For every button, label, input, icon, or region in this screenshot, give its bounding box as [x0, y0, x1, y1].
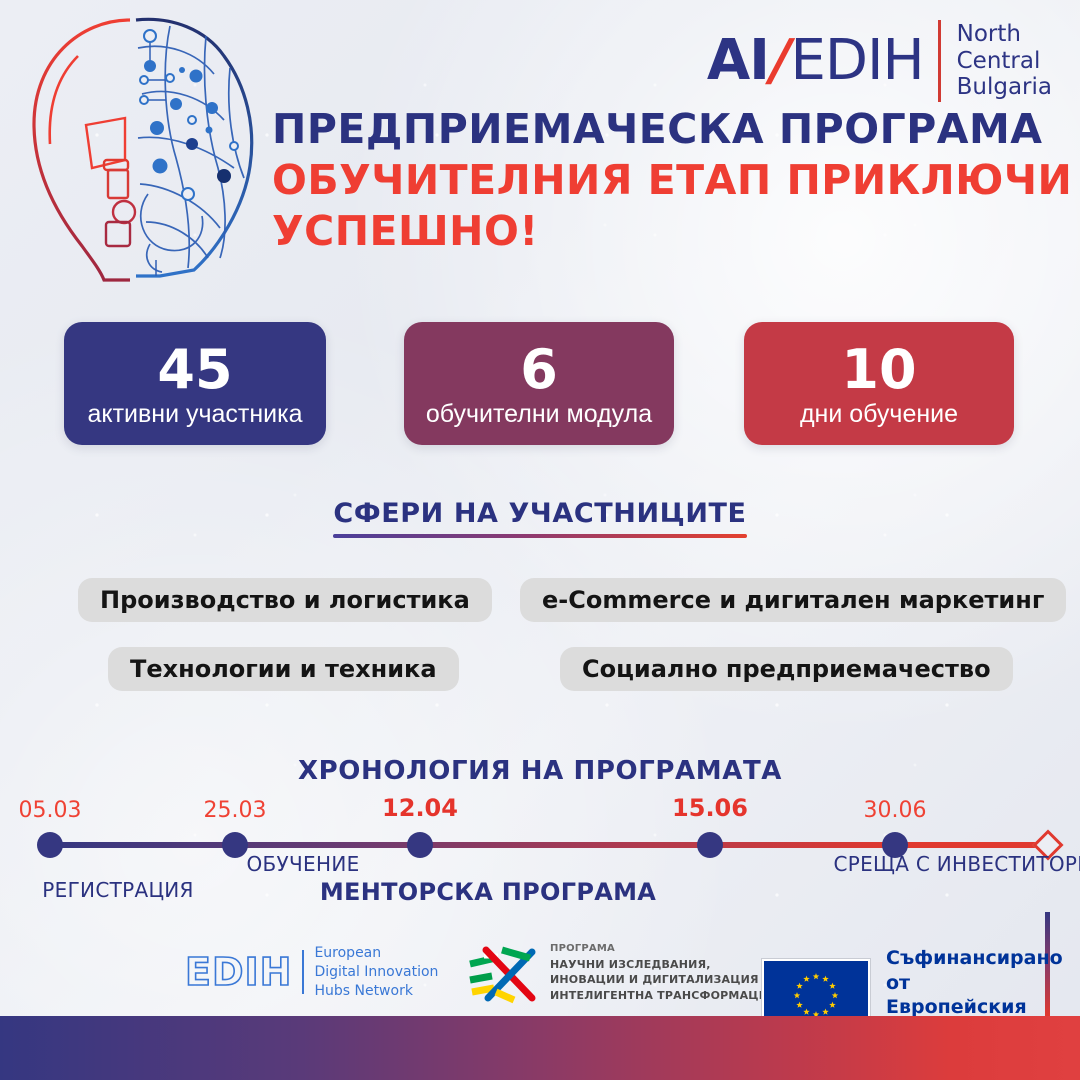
edih-network-line3: Hubs Network — [314, 982, 438, 1001]
timeline-dot — [37, 832, 63, 858]
program-logo: ПРОГРАМА НАУЧНИ ИЗСЛЕДВАНИЯ, ИНОВАЦИИ И … — [462, 942, 780, 1004]
timeline-date: 25.03 — [204, 798, 267, 823]
program-line0: ПРОГРАМА — [550, 942, 780, 956]
headline-line-3: УСПЕШНО! — [272, 206, 992, 257]
sphere-tag-list: Производство и логистика e-Commerce и ди… — [0, 575, 1080, 695]
stat-card: 45 активни участника — [64, 322, 326, 445]
timeline-date: 30.06 — [864, 798, 927, 823]
stat-label: активни участника — [64, 399, 326, 445]
stat-card: 6 обучителни модула — [404, 322, 674, 445]
headline: ПРЕДПРИЕМАЧЕСКА ПРОГРАМА ОБУЧИТЕЛНИЯ ЕТА… — [272, 104, 992, 256]
sphere-tag: Производство и логистика — [78, 578, 492, 622]
timeline-date: 15.06 — [672, 794, 748, 822]
bottom-gradient-bar — [0, 1016, 1080, 1080]
stat-cards: 45 активни участника 6 обучителни модула… — [0, 322, 1080, 468]
spheres-heading: СФЕРИ НА УЧАСТНИЦИТЕ — [0, 498, 1080, 538]
program-line2: ИНОВАЦИИ И ДИГИТАЛИЗАЦИЯ ЗА — [550, 972, 780, 988]
stat-card: 10 дни обучение — [744, 322, 1014, 445]
stat-number: 10 — [744, 342, 1014, 397]
program-timeline: 05.03РЕГИСТРАЦИЯ25.03ОБУЧЕНИЕ12.04МЕНТОР… — [0, 790, 1080, 920]
program-line3: ИНТЕЛИГЕНТНА ТРАНСФОРМАЦИЯ — [550, 988, 780, 1004]
brain-lightbulb-icon — [20, 8, 270, 293]
timeline-heading: ХРОНОЛОГИЯ НА ПРОГРАМАТА — [0, 756, 1080, 786]
logo-divider — [938, 20, 941, 102]
stat-label: обучителни модула — [404, 399, 674, 445]
sphere-tag: Социално предприемачество — [560, 647, 1013, 691]
edih-network-text: European Digital Innovation Hubs Network — [314, 944, 438, 1001]
timeline-date: 12.04 — [382, 794, 458, 822]
timeline-label: ОБУЧЕНИЕ — [246, 852, 359, 876]
timeline-dot — [697, 832, 723, 858]
stat-label: дни обучение — [744, 399, 1014, 445]
program-mark-icon — [462, 942, 540, 1004]
stat-number: 45 — [64, 342, 326, 397]
edih-network-divider — [302, 950, 304, 994]
logo-wordmark: AI/EDIH — [707, 33, 924, 89]
timeline-dot — [222, 832, 248, 858]
logo-region: North Central Bulgaria — [957, 21, 1052, 101]
logo-region-line1: North — [957, 21, 1052, 48]
headline-line-1: ПРЕДПРИЕМАЧЕСКА ПРОГРАМА — [272, 104, 992, 155]
edih-network-wordmark: EDIH — [185, 950, 292, 994]
spheres-heading-text: СФЕРИ НА УЧАСТНИЦИТЕ — [333, 498, 746, 538]
infographic-poster: AI/EDIH North Central Bulgaria ПРЕДПРИЕМ… — [0, 0, 1080, 1080]
aiedih-logo: AI/EDIH North Central Bulgaria — [707, 20, 1052, 102]
heading-underline — [333, 534, 746, 538]
edih-network-line1: European — [314, 944, 438, 963]
timeline-label: РЕГИСТРАЦИЯ — [42, 878, 193, 902]
program-text: ПРОГРАМА НАУЧНИ ИЗСЛЕДВАНИЯ, ИНОВАЦИИ И … — [550, 942, 780, 1003]
footer-logos: EDIH European Digital Innovation Hubs Ne… — [0, 930, 1080, 1014]
timeline-dot — [407, 832, 433, 858]
timeline-label: СРЕЩА С ИНВЕСТИТОРИ — [833, 852, 1080, 876]
timeline-label: МЕНТОРСКА ПРОГРАМА — [320, 878, 656, 906]
eu-funding-line1: Съфинансирано от — [886, 946, 1080, 995]
sphere-tag: e-Commerce и дигитален маркетинг — [520, 578, 1066, 622]
logo-ai: AI — [707, 28, 769, 93]
timeline-date: 05.03 — [19, 798, 82, 823]
logo-region-line3: Bulgaria — [957, 74, 1052, 101]
edih-network-line2: Digital Innovation — [314, 963, 438, 982]
spheres-heading-label: СФЕРИ НА УЧАСТНИЦИТЕ — [333, 498, 746, 529]
edih-network-logo: EDIH European Digital Innovation Hubs Ne… — [185, 944, 438, 1001]
logo-edih: EDIH — [790, 28, 923, 93]
stat-number: 6 — [404, 342, 674, 397]
sphere-tag: Технологии и техника — [108, 647, 459, 691]
logo-region-line2: Central — [957, 48, 1052, 75]
headline-line-2: ОБУЧИТЕЛНИЯ ЕТАП ПРИКЛЮЧИ — [272, 155, 992, 206]
program-line1: НАУЧНИ ИЗСЛЕДВАНИЯ, — [550, 957, 780, 973]
